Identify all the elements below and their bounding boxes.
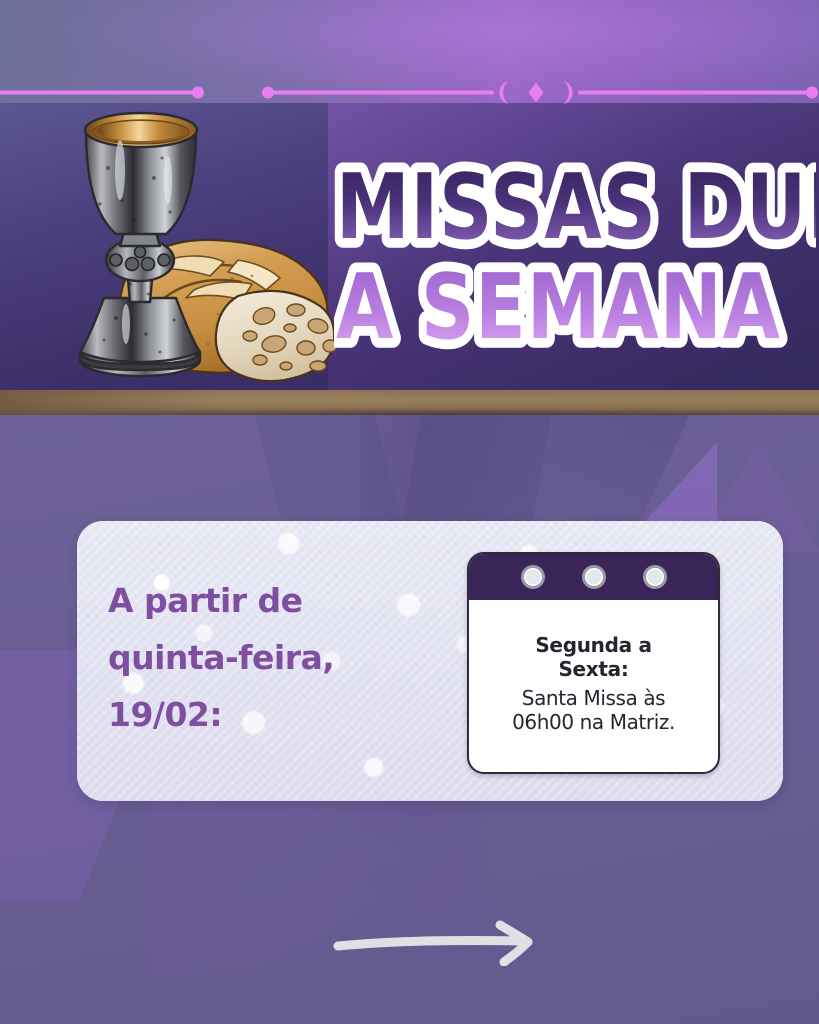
card-headline-line3: 19/02: [108,687,468,744]
poster-root: MISSAS DURANTE MISSAS DURANTE A SEMANA A… [0,0,819,1024]
calendar-note-text-line1: Santa Missa às [512,686,675,711]
grommet-icon [643,565,667,589]
calendar-note-body: Segunda a Sexta: Santa Missa às 06h00 na… [469,600,718,774]
svg-text:MISSAS DURANTE: MISSAS DURANTE [336,155,816,260]
grommet-icon [582,565,606,589]
svg-text:A SEMANA: A SEMANA [336,255,781,360]
calendar-note-header [469,554,718,600]
calendar-note-text-line2: 06h00 na Matriz. [512,710,675,735]
calendar-note-title-line2: Sexta: [535,657,651,681]
header-banner: MISSAS DURANTE MISSAS DURANTE A SEMANA A… [0,0,819,390]
calendar-note: Segunda a Sexta: Santa Missa às 06h00 na… [467,552,720,774]
chalice-and-bread-illustration [42,108,342,390]
ornamental-divider [0,79,819,105]
card-headline-line1: A partir de [108,573,468,630]
card-headline-line2: quinta-feira, [108,630,468,687]
title-artwork: MISSAS DURANTE MISSAS DURANTE A SEMANA A… [334,138,816,373]
calendar-note-title-line1: Segunda a [535,633,651,657]
calendar-note-title: Segunda a Sexta: [535,633,651,682]
card-headline: A partir de quinta-feira, 19/02: [108,573,468,743]
altar-table-edge [0,390,819,415]
grommet-icon [521,565,545,589]
calendar-note-text: Santa Missa às 06h00 na Matriz. [512,686,675,736]
right-arrow-icon [332,918,552,966]
page-title: MISSAS DURANTE MISSAS DURANTE A SEMANA A… [334,138,814,373]
